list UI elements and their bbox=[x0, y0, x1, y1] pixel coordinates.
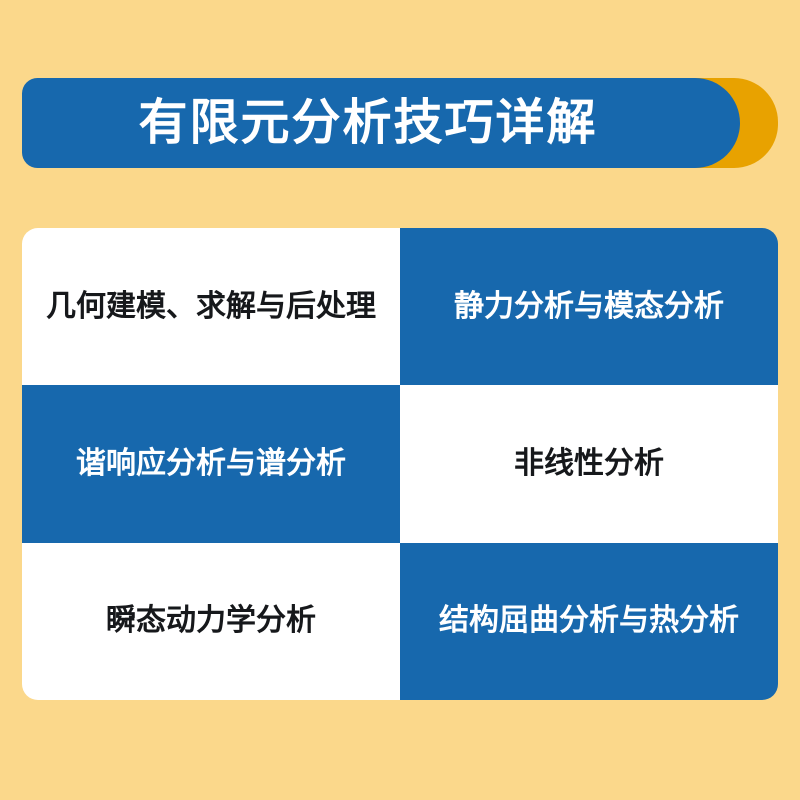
topic-card-2-label: 静力分析与模态分析 bbox=[454, 289, 724, 325]
topic-card-5-label: 瞬态动力学分析 bbox=[106, 603, 316, 639]
topic-card-5[interactable]: 瞬态动力学分析 bbox=[22, 543, 400, 700]
poster-root: 有限元分析技巧详解 几何建模、求解与后处理 静力分析与模态分析 谐响应分析与谱分… bbox=[0, 0, 800, 800]
topic-card-1-label: 几何建模、求解与后处理 bbox=[46, 289, 376, 325]
topic-grid: 几何建模、求解与后处理 静力分析与模态分析 谐响应分析与谱分析 非线性分析 瞬态… bbox=[22, 228, 778, 700]
topic-card-6[interactable]: 结构屈曲分析与热分析 bbox=[400, 543, 778, 700]
topic-card-4[interactable]: 非线性分析 bbox=[400, 385, 778, 542]
topic-card-3-label: 谐响应分析与谱分析 bbox=[76, 446, 346, 482]
topic-card-6-label: 结构屈曲分析与热分析 bbox=[439, 603, 739, 639]
header-bar: 有限元分析技巧详解 bbox=[22, 78, 740, 168]
topic-card-4-label: 非线性分析 bbox=[514, 446, 664, 482]
topic-card-1[interactable]: 几何建模、求解与后处理 bbox=[22, 228, 400, 385]
topic-card-2[interactable]: 静力分析与模态分析 bbox=[400, 228, 778, 385]
page-title: 有限元分析技巧详解 bbox=[138, 99, 597, 148]
header-banner: 有限元分析技巧详解 bbox=[22, 78, 778, 168]
topic-card-3[interactable]: 谐响应分析与谱分析 bbox=[22, 385, 400, 542]
